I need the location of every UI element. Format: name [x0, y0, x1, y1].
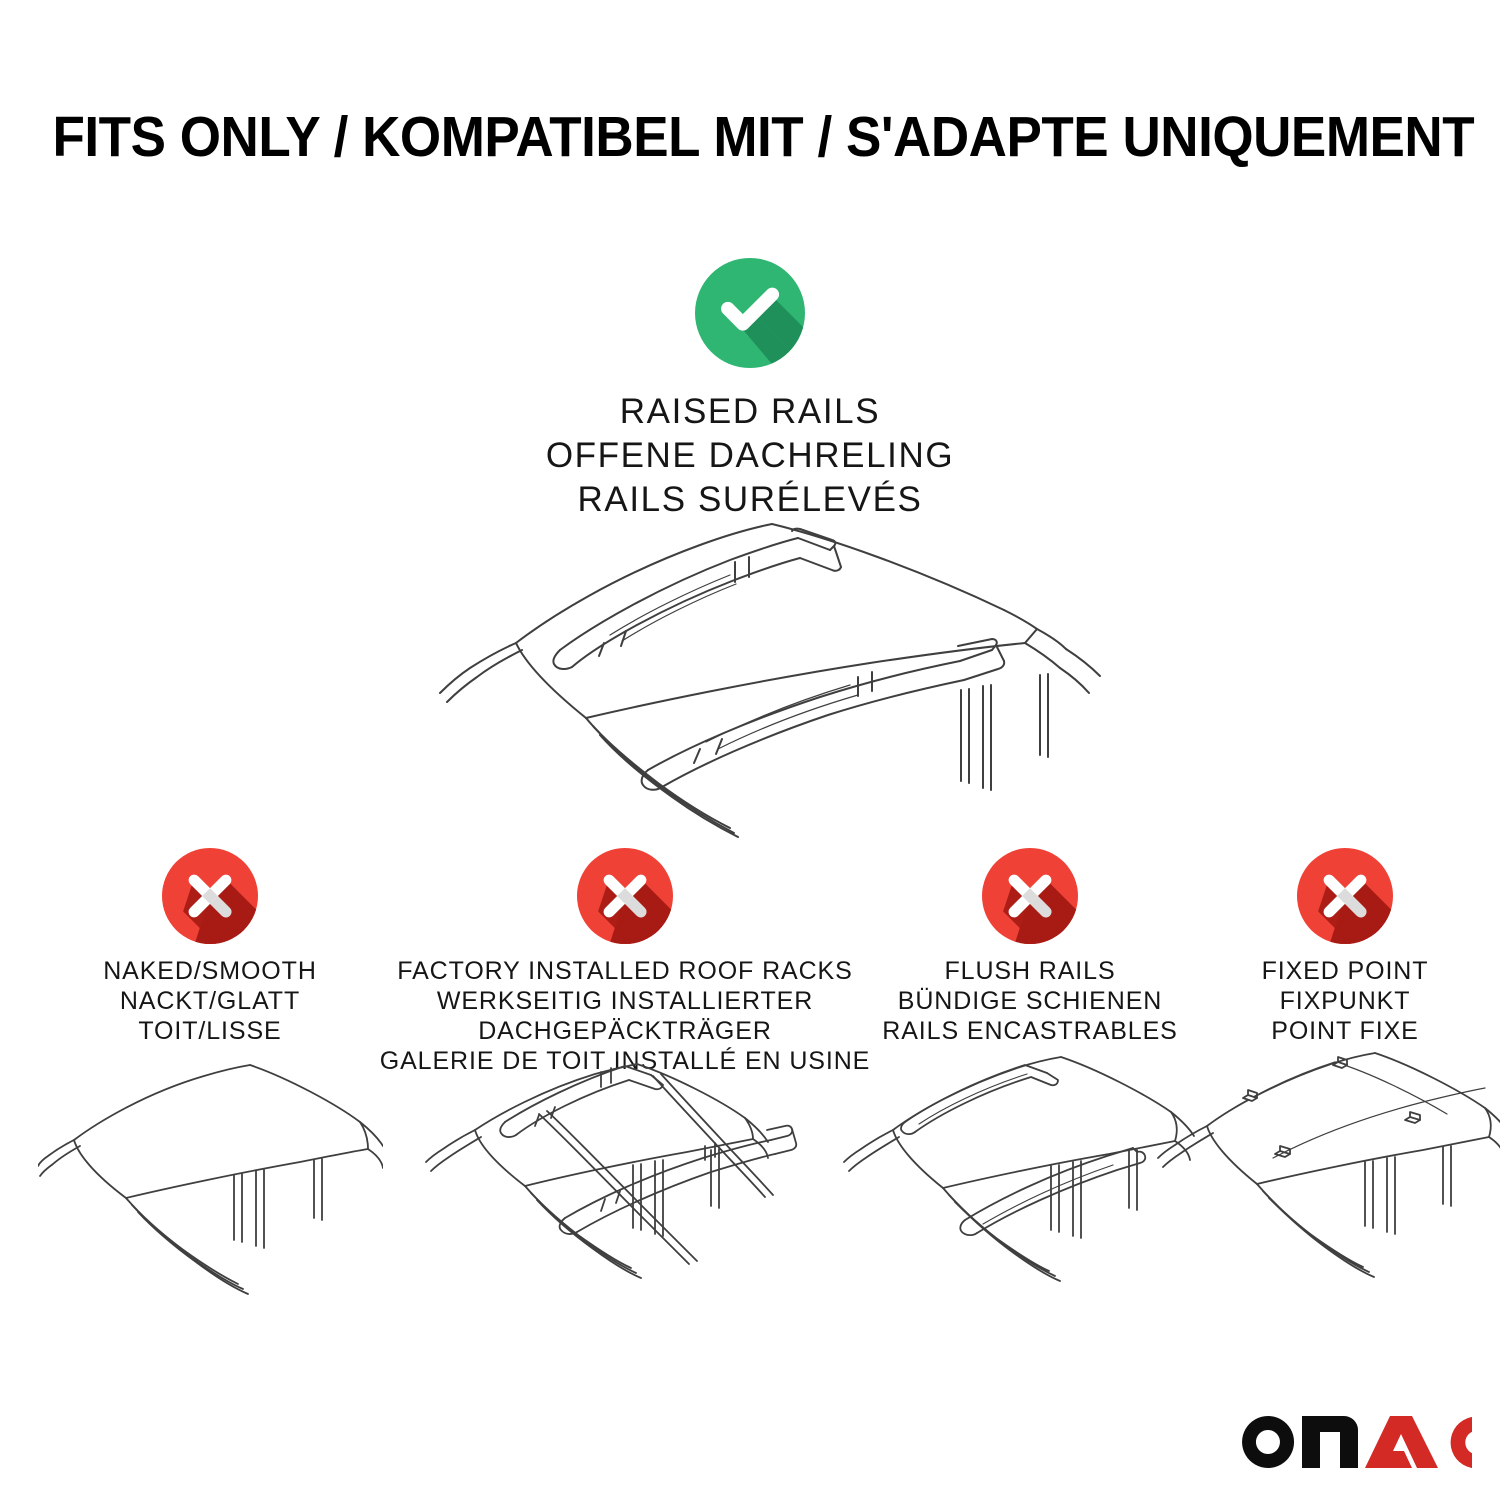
caption-line-en: FIXED POINT [1262, 956, 1429, 986]
check-circle-icon [695, 258, 805, 368]
caption-line-en: NAKED/SMOOTH [103, 956, 317, 986]
logo-letter-a [1365, 1416, 1438, 1468]
x-circle-icon [162, 848, 258, 944]
omac-logo [1232, 1404, 1472, 1480]
rejected-caption: NAKED/SMOOTH NACKT/GLATT TOIT/LISSE [103, 956, 317, 1046]
caption-line-de-1: WERKSEITIG INSTALLIERTER [380, 986, 871, 1016]
caption-line-de: NACKT/GLATT [103, 986, 317, 1016]
x-circle-icon [1297, 848, 1393, 944]
logo-letter-o [1242, 1416, 1294, 1468]
rejected-item-naked-smooth: NAKED/SMOOTH NACKT/GLATT TOIT/LISSE [30, 848, 390, 1046]
x-circle-icon [982, 848, 1078, 944]
car-roof-fixed-point-illustration [1155, 1048, 1500, 1288]
approved-caption-line-en: RAISED RAILS [546, 390, 954, 434]
caption-line-fr: TOIT/LISSE [103, 1016, 317, 1046]
rejected-section: NAKED/SMOOTH NACKT/GLATT TOIT/LISSE [0, 848, 1500, 1328]
page-title: FITS ONLY / KOMPATIBEL MIT / S'ADAPTE UN… [53, 103, 1448, 171]
car-roof-factory-racks-illustration [415, 1058, 810, 1298]
x-circle-icon [577, 848, 673, 944]
rejected-item-fixed-point: FIXED POINT FIXPUNKT POINT FIXE [1190, 848, 1500, 1046]
rejected-item-flush-rails: FLUSH RAILS BÜNDIGE SCHIENEN RAILS ENCAS… [845, 848, 1215, 1046]
caption-line-de-2: DACHGEPÄCKTRÄGER [380, 1016, 871, 1046]
car-roof-naked-smooth-illustration [38, 1060, 383, 1295]
car-roof-raised-rails-illustration [400, 500, 1120, 850]
caption-line-de: BÜNDIGE SCHIENEN [882, 986, 1177, 1016]
rejected-caption: FLUSH RAILS BÜNDIGE SCHIENEN RAILS ENCAS… [882, 956, 1177, 1046]
caption-line-de: FIXPUNKT [1262, 986, 1429, 1016]
approved-section: RAISED RAILS OFFENE DACHRELING RAILS SUR… [0, 258, 1500, 522]
caption-line-en: FACTORY INSTALLED ROOF RACKS [380, 956, 871, 986]
logo-letter-c [1451, 1417, 1472, 1468]
rejected-item-factory-racks: FACTORY INSTALLED ROOF RACKS WERKSEITIG … [395, 848, 855, 1076]
rejected-caption: FIXED POINT FIXPUNKT POINT FIXE [1262, 956, 1429, 1046]
approved-caption-line-de: OFFENE DACHRELING [546, 434, 954, 478]
caption-line-fr: RAILS ENCASTRABLES [882, 1016, 1177, 1046]
logo-letter-m [1302, 1416, 1358, 1468]
caption-line-en: FLUSH RAILS [882, 956, 1177, 986]
caption-line-fr: POINT FIXE [1262, 1016, 1429, 1046]
